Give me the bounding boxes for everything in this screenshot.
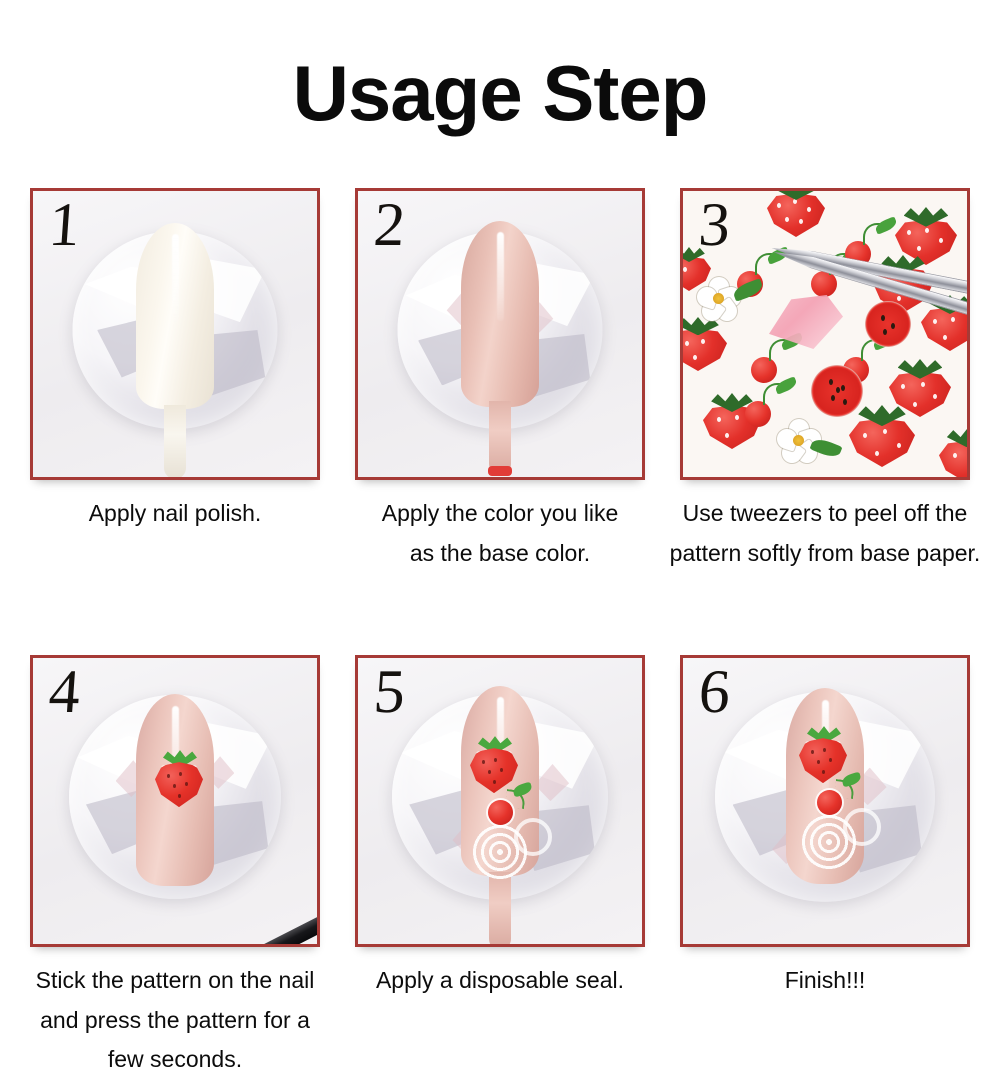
step-6: 6 Finish!!! — [680, 655, 970, 1080]
caption-line: few seconds. — [10, 1040, 340, 1080]
steps-grid: 1 Apply nail polish. — [0, 188, 1000, 1080]
step-number-1: 1 — [47, 193, 83, 258]
step-1-image-frame: 1 — [30, 188, 320, 480]
nail-brush-tool-icon — [152, 915, 320, 947]
cherry-sticker-icon — [815, 772, 861, 816]
step-4: 4 Stick the pattern on the nail and pres… — [30, 655, 320, 1080]
step-4-image-frame: 4 — [30, 655, 320, 947]
strawberry-sticker-icon — [849, 405, 915, 467]
nail-tip — [461, 221, 539, 407]
step-1-caption: Apply nail polish. — [10, 494, 340, 534]
step-6-caption: Finish!!! — [660, 961, 990, 1001]
step-5-caption: Apply a disposable seal. — [335, 961, 665, 1001]
step-3-image-frame: 3 — [680, 188, 970, 480]
caption-line: Apply the color you like — [335, 494, 665, 534]
step-3-caption: Use tweezers to peel off the pattern sof… — [660, 494, 990, 573]
step-number-5: 5 — [372, 660, 408, 725]
step-1: 1 Apply nail polish. — [30, 188, 320, 573]
caption-line: Apply nail polish. — [10, 494, 340, 534]
steps-row-top: 1 Apply nail polish. — [0, 188, 1000, 573]
watermelon-sticker-icon — [811, 365, 863, 417]
caption-line: Finish!!! — [660, 961, 990, 1001]
caption-line: Use tweezers to peel off the — [660, 494, 990, 534]
strawberry-sticker-icon — [151, 750, 207, 808]
step-5-image-frame: 5 — [355, 655, 645, 947]
step-2-caption: Apply the color you like as the base col… — [335, 494, 665, 573]
step-number-6: 6 — [697, 660, 733, 725]
caption-line: Stick the pattern on the nail — [10, 961, 340, 1001]
strawberry-sticker-icon — [767, 191, 825, 237]
steps-row-bottom: 4 Stick the pattern on the nail and pres… — [0, 655, 1000, 1080]
step-4-caption: Stick the pattern on the nail and press … — [10, 961, 340, 1080]
caption-line: pattern softly from base paper. — [660, 534, 990, 574]
flower-sticker-icon — [777, 419, 823, 465]
step-number-3: 3 — [697, 193, 733, 258]
caption-line: Apply a disposable seal. — [335, 961, 665, 1001]
step-2: 2 Apply the color you like as the base c… — [355, 188, 645, 573]
strawberry-sticker-icon — [683, 317, 727, 371]
step-5: 5 Apply a disposable seal. — [355, 655, 645, 1080]
page-title: Usage Step — [0, 54, 1000, 132]
flower-sticker-icon — [697, 277, 743, 323]
usage-step-infographic: Usage Step — [0, 0, 1000, 1000]
step-3: 3 Use tweezers to peel off the pattern s… — [680, 188, 970, 573]
nail-tip — [136, 223, 214, 409]
step-number-4: 4 — [47, 660, 83, 725]
cherry-sticker-icon — [486, 782, 532, 826]
step-6-image-frame: 6 — [680, 655, 970, 947]
step-number-2: 2 — [372, 193, 408, 258]
strawberry-sticker-icon — [939, 429, 967, 477]
caption-line: and press the pattern for a — [10, 1001, 340, 1041]
caption-line: as the base color. — [335, 534, 665, 574]
step-2-image-frame: 2 — [355, 188, 645, 480]
